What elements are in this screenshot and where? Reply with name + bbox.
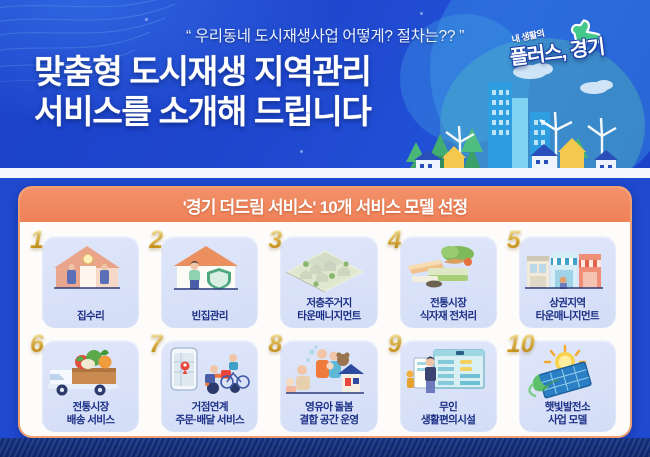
card-number: 4 bbox=[388, 228, 402, 253]
card-number: 5 bbox=[507, 228, 521, 253]
card-body: 빈집관리 bbox=[161, 236, 258, 328]
service-card-10[interactable]: 햇빛발전소 사업 모델 10 bbox=[507, 334, 620, 434]
sparkle-icon bbox=[420, 12, 423, 15]
card-number: 6 bbox=[30, 332, 44, 357]
sparkle-icon bbox=[300, 150, 303, 153]
card-body: 무인 생활편의시설 bbox=[400, 340, 497, 432]
title-line-2: 서비스를 소개해 드립니다 bbox=[34, 92, 371, 132]
card-label: 거점연계 주문·배달 서비스 bbox=[175, 401, 244, 426]
card-label: 빈집관리 bbox=[192, 310, 228, 323]
service-card-8[interactable]: 영유아 돌봄 결합 공간 운영 8 bbox=[268, 334, 381, 434]
page-title: 맞춤형 도시재생 지역관리 서비스를 소개해 드립니다 bbox=[34, 52, 371, 132]
card-label: 전통시장 식자재 전처리 bbox=[420, 297, 477, 322]
card-label: 영유아 돌봄 결합 공간 운영 bbox=[299, 401, 358, 426]
service-card-3[interactable]: 저층주거지 타운매니지먼트 3 bbox=[268, 230, 381, 330]
card-label: 햇빛발전소 사업 모델 bbox=[545, 401, 590, 426]
logo-word-gyeonggi: 경기 bbox=[569, 36, 606, 62]
service-card-9[interactable]: 무인 생활편의시설 9 bbox=[388, 334, 501, 434]
card-body: 집수리 bbox=[42, 236, 139, 328]
card-number: 9 bbox=[388, 332, 402, 357]
card-number: 1 bbox=[30, 228, 44, 253]
house-repair-icon bbox=[42, 240, 132, 296]
services-panel: '경기 더드림 서비스' 10개 서비스 모델 선정 bbox=[18, 186, 632, 438]
card-body: 거점연계 주문·배달 서비스 bbox=[161, 340, 258, 432]
vacant-house-shield-icon bbox=[161, 240, 251, 296]
card-number: 8 bbox=[268, 332, 282, 357]
card-body: 전통시장 식자재 전처리 bbox=[400, 236, 497, 328]
service-card-6[interactable]: 전통시장 배송 서비스 6 bbox=[30, 334, 143, 434]
card-number: 3 bbox=[268, 228, 282, 253]
header-banner: “ 우리동네 도시재생사업 어떻게? 절차는?? ” 맞춤형 도시재생 지역관리… bbox=[0, 0, 650, 178]
service-cards-grid: 집수리 1 bbox=[20, 222, 630, 438]
card-number: 7 bbox=[149, 332, 163, 357]
panel-banner-title: '경기 더드림 서비스' 10개 서비스 모델 선정 bbox=[20, 188, 630, 222]
food-ingredients-icon bbox=[400, 240, 490, 296]
card-number: 2 bbox=[149, 228, 163, 253]
service-card-4[interactable]: 전통시장 식자재 전처리 4 bbox=[388, 230, 501, 330]
card-body: 상권지역 타운매니지먼트 bbox=[519, 236, 616, 328]
card-label: 집수리 bbox=[77, 310, 104, 323]
sparkle-icon bbox=[145, 18, 148, 21]
childcare-family-icon bbox=[280, 344, 370, 400]
card-body: 저층주거지 타운매니지먼트 bbox=[280, 236, 377, 328]
service-card-1[interactable]: 집수리 1 bbox=[30, 230, 143, 330]
shop-street-icon bbox=[519, 240, 609, 296]
card-label: 상권지역 타운매니지먼트 bbox=[536, 297, 599, 322]
service-card-2[interactable]: 빈집관리 2 bbox=[149, 230, 262, 330]
header-divider bbox=[0, 168, 650, 178]
phone-scooter-icon bbox=[161, 344, 251, 400]
card-label: 무인 생활편의시설 bbox=[421, 401, 475, 426]
infographic-page: “ 우리동네 도시재생사업 어떻게? 절차는?? ” 맞춤형 도시재생 지역관리… bbox=[0, 0, 650, 457]
low-rise-district-icon bbox=[280, 240, 370, 296]
card-label: 저층주거지 타운매니지먼트 bbox=[297, 297, 360, 322]
card-label: 전통시장 배송 서비스 bbox=[67, 401, 115, 426]
delivery-truck-icon bbox=[42, 344, 132, 400]
title-line-1: 맞춤형 도시재생 지역관리 bbox=[34, 52, 371, 92]
card-body: 영유아 돌봄 결합 공간 운영 bbox=[280, 340, 377, 432]
service-card-5[interactable]: 상권지역 타운매니지먼트 5 bbox=[507, 230, 620, 330]
footer-strip bbox=[0, 438, 650, 457]
card-body: 전통시장 배송 서비스 bbox=[42, 340, 139, 432]
card-number: 10 bbox=[507, 332, 535, 357]
kiosk-screen-icon bbox=[400, 344, 490, 400]
service-card-7[interactable]: 거점연계 주문·배달 서비스 7 bbox=[149, 334, 262, 434]
